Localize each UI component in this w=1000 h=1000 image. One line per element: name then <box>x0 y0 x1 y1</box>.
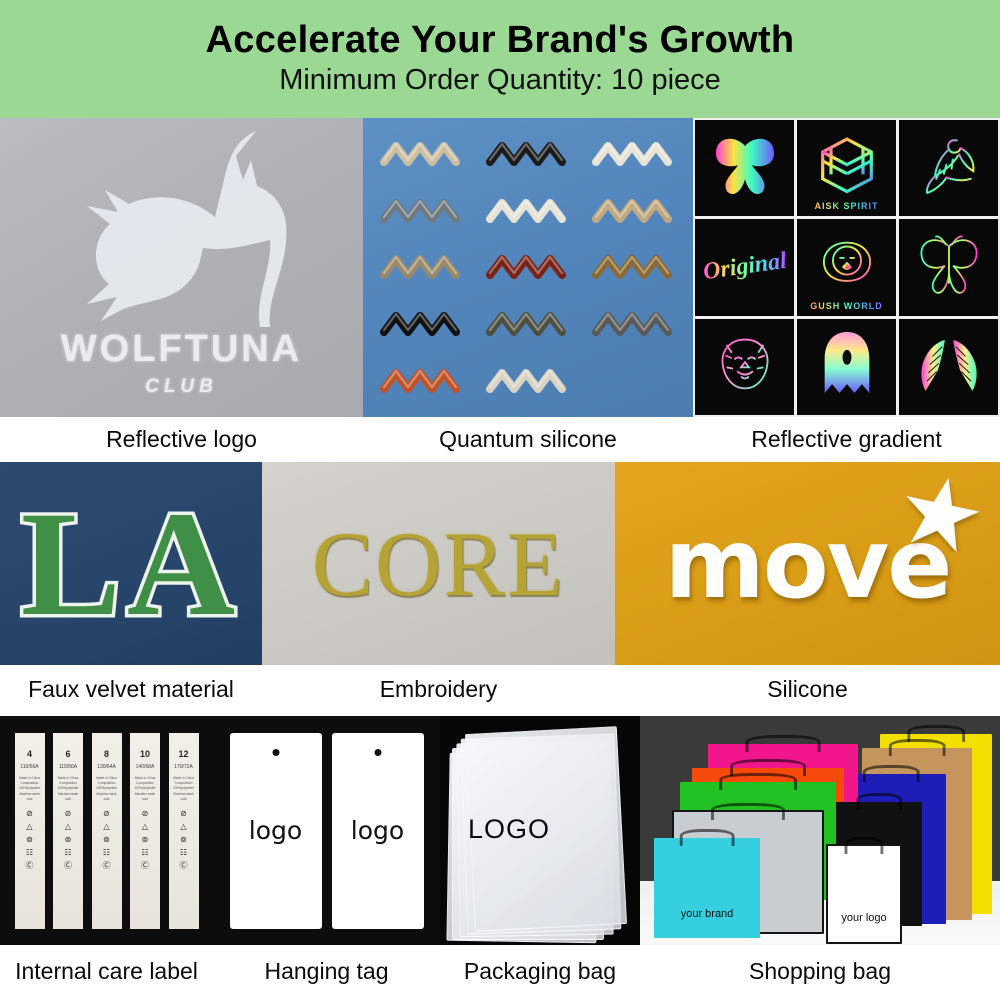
product-row-3: 4110/56AMade in ChinaComposition100%poly… <box>0 716 1000 945</box>
holographic-design-cell[interactable]: AISK SPIRIT <box>797 120 896 216</box>
iron-icon: ☷ <box>180 849 187 857</box>
care-label-strip[interactable]: 4110/56AMade in ChinaComposition100%poly… <box>15 733 45 929</box>
hang-tag-group: logologo <box>213 716 440 945</box>
lion-head-icon <box>815 235 879 300</box>
reflective-gradient-panel[interactable]: AISK SPIRITOriginalGUSH WORLD <box>693 118 1000 417</box>
tumble-dry-icon: ⊚ <box>26 836 33 844</box>
minimum-order-quantity: Minimum Order Quantity: 10 piece <box>279 64 721 97</box>
caption-packaging-bag: Packaging bag <box>440 945 640 1000</box>
chevron-patch <box>475 239 581 296</box>
care-label-strip[interactable]: 6110/56AMade in ChinaComposition100%poly… <box>53 733 83 929</box>
chevron-patch <box>369 296 475 353</box>
holographic-design-label: GUSH WORLD <box>797 301 896 311</box>
tiger-head-icon <box>712 333 778 400</box>
product-row-1: WOLFTUNA CLUB AISK SPIRITOriginalGUSH WO… <box>0 118 1000 417</box>
internal-care-label-panel[interactable]: 4110/56AMade in ChinaComposition100%poly… <box>0 716 213 945</box>
wash-tub-icon: ⊘ <box>65 810 72 818</box>
rubiks-cube-icon <box>815 134 879 203</box>
bag-handle-icon <box>719 773 797 790</box>
chevron-patch <box>369 239 475 296</box>
iron-icon: ☷ <box>64 849 71 857</box>
care-label-code: 170/72A <box>174 764 193 770</box>
chevron-patch <box>581 239 687 296</box>
faux-velvet-panel[interactable]: LA <box>0 462 262 665</box>
product-infographic: Accelerate Your Brand's Growth Minimum O… <box>0 0 1000 1000</box>
holographic-design-cell[interactable]: Original <box>695 219 794 315</box>
caption-row-3: Internal care label Hanging tag Packagin… <box>0 945 1000 1000</box>
caption-hanging-tag: Hanging tag <box>213 945 440 1000</box>
care-label-size: 10 <box>140 749 150 759</box>
hanging-tag-panel[interactable]: logologo <box>213 716 440 945</box>
caption-reflective-logo: Reflective logo <box>0 417 363 462</box>
care-label-code: 110/56A <box>59 764 77 770</box>
caption-row-2: Faux velvet material Embroidery Silicone <box>0 665 1000 713</box>
dry-clean-icon: Ⓒ <box>64 862 72 870</box>
caption-internal-care-label: Internal care label <box>0 945 213 1000</box>
chevron-patch <box>581 183 687 240</box>
shopping-bag-panel[interactable]: your brandyour logo <box>640 716 1000 945</box>
care-symbol-group: ⊘△⊚☷Ⓒ <box>141 810 149 870</box>
bleach-triangle-icon: △ <box>103 823 109 831</box>
bag-logo-text: your brand <box>654 908 760 920</box>
hang-tag-hole-icon <box>272 749 279 756</box>
care-symbol-group: ⊘△⊚☷Ⓒ <box>64 810 72 870</box>
chevron-patch <box>369 183 475 240</box>
bleach-triangle-icon: △ <box>26 823 32 831</box>
wash-tub-icon: ⊘ <box>103 810 110 818</box>
bag-handle-icon <box>746 735 821 752</box>
product-row-2: LA CORE move <box>0 462 1000 665</box>
care-symbol-group: ⊘△⊚☷Ⓒ <box>180 810 188 870</box>
care-label-size: 8 <box>104 749 109 759</box>
holographic-design-cell[interactable]: GUSH WORLD <box>797 219 896 315</box>
page-title: Accelerate Your Brand's Growth <box>206 21 795 61</box>
holographic-design-cell[interactable] <box>899 120 998 216</box>
chevron-patch-empty <box>581 352 687 409</box>
wash-tub-icon: ⊘ <box>142 810 149 818</box>
bleach-triangle-icon: △ <box>65 823 71 831</box>
shopping-bag: your brand <box>654 838 760 938</box>
embroidery-panel[interactable]: CORE <box>262 462 615 665</box>
iron-icon: ☷ <box>103 849 110 857</box>
reflective-logo-panel[interactable]: WOLFTUNA CLUB <box>0 118 363 417</box>
hang-tag-hole-icon <box>374 749 381 756</box>
poly-bag-logo-text: LOGO <box>468 814 550 845</box>
wolf-tuna-artwork <box>0 118 363 417</box>
holographic-design-cell[interactable] <box>695 319 794 415</box>
care-label-code: 140/68A <box>136 764 155 770</box>
chevron-patch <box>475 183 581 240</box>
hang-tag-logo-text: logo <box>249 816 302 845</box>
hang-tag[interactable]: logo <box>332 733 424 929</box>
hang-tag[interactable]: logo <box>230 733 322 929</box>
care-label-text: Made in ChinaComposition100%polyesterMac… <box>95 776 119 803</box>
bag-logo-text: your logo <box>828 912 900 924</box>
la-letters: LA <box>0 462 262 665</box>
care-label-strip[interactable]: 10140/68AMade in ChinaComposition100%pol… <box>130 733 160 929</box>
holographic-design-cell[interactable] <box>899 319 998 415</box>
chevron-patch <box>581 126 687 183</box>
wolf-tuna-silhouette-icon <box>0 118 363 417</box>
core-embroidery-text: CORE <box>262 462 615 665</box>
dry-clean-icon: Ⓒ <box>103 862 111 870</box>
iron-icon: ☷ <box>26 849 33 857</box>
shopping-bag: your logo <box>826 844 902 944</box>
tumble-dry-icon: ⊚ <box>142 836 149 844</box>
bag-handle-icon <box>711 803 785 820</box>
chevron-patch <box>475 296 581 353</box>
care-label-strip[interactable]: 12170/72AMade in ChinaComposition100%pol… <box>169 733 199 929</box>
wash-tub-icon: ⊘ <box>180 810 187 818</box>
butterfly-icon <box>710 135 780 202</box>
care-label-size: 4 <box>27 749 32 759</box>
silicone-panel[interactable]: move <box>615 462 1000 665</box>
bag-handle-icon <box>889 739 946 756</box>
tumble-dry-icon: ⊚ <box>65 836 72 844</box>
holographic-design-grid: AISK SPIRITOriginalGUSH WORLD <box>693 118 1000 417</box>
quantum-silicone-panel[interactable] <box>363 118 693 417</box>
dry-clean-icon: Ⓒ <box>141 862 149 870</box>
care-label-strip[interactable]: 8130/64AMade in ChinaComposition100%poly… <box>92 733 122 929</box>
star-icon <box>902 474 980 552</box>
caption-shopping-bag: Shopping bag <box>640 945 1000 1000</box>
caption-row-1: Reflective logo Quantum silicone Reflect… <box>0 417 1000 462</box>
care-label-size: 6 <box>65 749 70 759</box>
tumble-dry-icon: ⊚ <box>180 836 187 844</box>
hang-tag-logo-text: logo <box>351 816 404 845</box>
care-label-text: Made in ChinaComposition100%polyesterMac… <box>172 776 196 803</box>
chevron-patch <box>369 352 475 409</box>
header-banner: Accelerate Your Brand's Growth Minimum O… <box>0 0 1000 118</box>
brand-name-line1: WOLFTUNA <box>0 328 363 371</box>
chevron-patch <box>475 126 581 183</box>
caption-quantum-silicone: Quantum silicone <box>363 417 693 462</box>
bag-handle-icon <box>863 765 920 782</box>
care-label-text: Made in ChinaComposition100%polyesterMac… <box>18 776 42 803</box>
holographic-design-label: AISK SPIRIT <box>797 201 896 211</box>
script-text-icon: Original <box>701 248 788 286</box>
poly-bag-stack: LOGO <box>440 716 640 945</box>
wash-tub-icon: ⊘ <box>26 810 33 818</box>
care-label-code: 130/64A <box>97 764 116 770</box>
bleach-triangle-icon: △ <box>180 823 186 831</box>
chevron-patch-grid <box>363 118 693 417</box>
care-label-strip-group: 4110/56AMade in ChinaComposition100%poly… <box>0 716 213 945</box>
chevron-patch <box>475 352 581 409</box>
care-symbol-group: ⊘△⊚☷Ⓒ <box>26 810 34 870</box>
angel-wings-icon <box>913 333 985 400</box>
dry-clean-icon: Ⓒ <box>180 862 188 870</box>
care-label-size: 12 <box>178 749 188 759</box>
holographic-design-cell[interactable] <box>695 120 794 216</box>
caption-silicone: Silicone <box>615 665 1000 713</box>
holographic-design-cell[interactable] <box>899 219 998 315</box>
caption-embroidery: Embroidery <box>262 665 615 713</box>
care-label-text: Made in ChinaComposition100%polyesterMac… <box>56 776 80 803</box>
brand-name-line2: CLUB <box>0 376 363 398</box>
caption-faux-velvet: Faux velvet material <box>0 665 262 713</box>
packaging-bag-panel[interactable]: LOGO <box>440 716 640 945</box>
bag-handle-icon <box>680 829 735 846</box>
iron-icon: ☷ <box>141 849 148 857</box>
chevron-patch <box>581 296 687 353</box>
tumble-dry-icon: ⊚ <box>103 836 110 844</box>
dry-clean-icon: Ⓒ <box>26 862 34 870</box>
bag-handle-icon <box>844 837 883 854</box>
bag-handle-icon <box>856 793 902 810</box>
bleach-triangle-icon: △ <box>142 823 148 831</box>
care-label-code: 110/56A <box>20 764 38 770</box>
care-symbol-group: ⊘△⊚☷Ⓒ <box>103 810 111 870</box>
chevron-patch <box>369 126 475 183</box>
caption-reflective-gradient: Reflective gradient <box>693 417 1000 462</box>
butterfly-outline-icon <box>914 234 984 301</box>
shopping-bag-group: your brandyour logo <box>640 716 1000 945</box>
ghost-icon <box>817 329 877 404</box>
phoenix-icon <box>916 134 982 203</box>
care-label-text: Made in ChinaComposition100%polyesterMac… <box>133 776 157 803</box>
holographic-design-cell[interactable] <box>797 319 896 415</box>
